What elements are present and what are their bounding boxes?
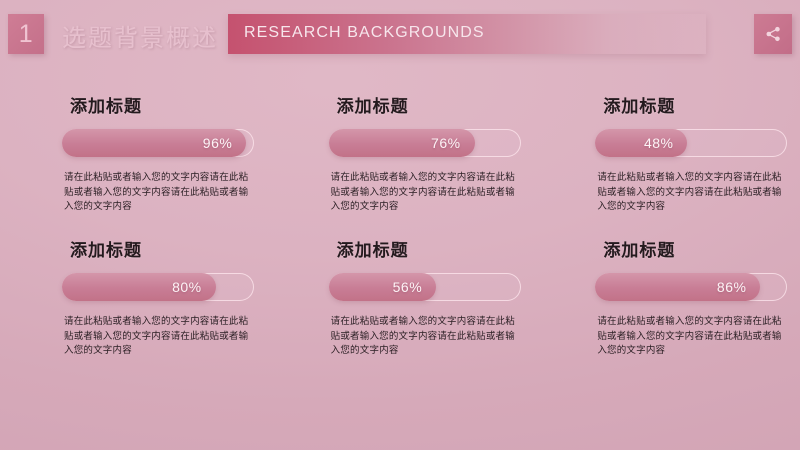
stat-cell: 添加标题 96% 请在此粘贴或者输入您的文字内容请在此粘贴或者输入您的文字内容请… [0, 92, 267, 234]
progress-value: 96% [203, 135, 233, 151]
stat-body-text: 请在此粘贴或者输入您的文字内容请在此粘贴或者输入您的文字内容请在此粘贴或者输入您… [64, 315, 252, 359]
stat-cell: 添加标题 48% 请在此粘贴或者输入您的文字内容请在此粘贴或者输入您的文字内容请… [533, 92, 800, 234]
progress-fill: 76% [329, 129, 475, 157]
stat-body-text: 请在此粘贴或者输入您的文字内容请在此粘贴或者输入您的文字内容请在此粘贴或者输入您… [64, 171, 252, 215]
progress-fill: 56% [329, 273, 437, 301]
stats-grid: 添加标题 96% 请在此粘贴或者输入您的文字内容请在此粘贴或者输入您的文字内容请… [0, 92, 800, 378]
stat-body-text: 请在此粘贴或者输入您的文字内容请在此粘贴或者输入您的文字内容请在此粘贴或者输入您… [331, 315, 519, 359]
stat-title: 添加标题 [70, 92, 267, 117]
stat-title: 添加标题 [337, 92, 534, 117]
stat-title: 添加标题 [337, 236, 534, 261]
stat-title: 添加标题 [70, 236, 267, 261]
stat-cell: 添加标题 76% 请在此粘贴或者输入您的文字内容请在此粘贴或者输入您的文字内容请… [267, 92, 534, 234]
stat-body-text: 请在此粘贴或者输入您的文字内容请在此粘贴或者输入您的文字内容请在此粘贴或者输入您… [331, 171, 519, 215]
progress-value: 56% [393, 279, 423, 295]
slide-header: 1 选题背景概述 RESEARCH BACKGROUNDS [0, 0, 800, 68]
share-icon [763, 24, 783, 44]
progress-bar[interactable]: 80% [62, 273, 254, 301]
stat-title: 添加标题 [603, 92, 800, 117]
section-number: 1 [19, 22, 33, 47]
page-title-cn: 选题背景概述 [62, 18, 218, 53]
stat-body-text: 请在此粘贴或者输入您的文字内容请在此粘贴或者输入您的文字内容请在此粘贴或者输入您… [597, 315, 785, 359]
progress-bar[interactable]: 76% [329, 129, 521, 157]
progress-fill: 48% [595, 129, 687, 157]
progress-value: 76% [431, 135, 461, 151]
slide-canvas: 1 选题背景概述 RESEARCH BACKGROUNDS 添加标题 [0, 0, 800, 450]
stat-body-text: 请在此粘贴或者输入您的文字内容请在此粘贴或者输入您的文字内容请在此粘贴或者输入您… [597, 171, 785, 215]
progress-fill: 80% [62, 273, 216, 301]
progress-bar[interactable]: 86% [595, 273, 787, 301]
share-button[interactable] [754, 14, 792, 54]
stat-cell: 添加标题 80% 请在此粘贴或者输入您的文字内容请在此粘贴或者输入您的文字内容请… [0, 236, 267, 378]
stat-cell: 添加标题 86% 请在此粘贴或者输入您的文字内容请在此粘贴或者输入您的文字内容请… [533, 236, 800, 378]
progress-value: 48% [644, 135, 674, 151]
progress-fill: 86% [595, 273, 760, 301]
section-number-badge: 1 [8, 14, 44, 54]
page-title-en: RESEARCH BACKGROUNDS [244, 24, 485, 42]
progress-fill: 96% [62, 129, 246, 157]
stat-title: 添加标题 [603, 236, 800, 261]
stat-cell: 添加标题 56% 请在此粘贴或者输入您的文字内容请在此粘贴或者输入您的文字内容请… [267, 236, 534, 378]
progress-value: 80% [172, 279, 202, 295]
progress-bar[interactable]: 56% [329, 273, 521, 301]
progress-value: 86% [717, 279, 747, 295]
progress-bar[interactable]: 48% [595, 129, 787, 157]
progress-bar[interactable]: 96% [62, 129, 254, 157]
